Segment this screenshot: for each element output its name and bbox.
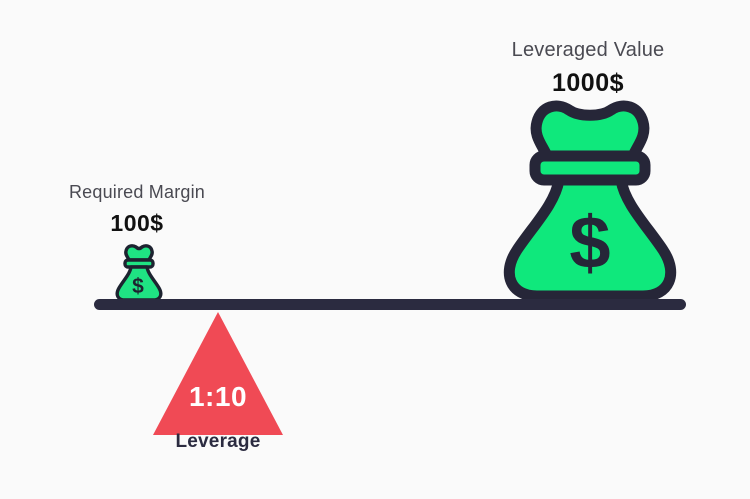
svg-text:$: $: [132, 275, 144, 298]
required-margin-caption: Required Margin: [37, 183, 237, 201]
leveraged-value-amount: 1000$: [438, 71, 738, 96]
illustration-canvas: Leveraged Value 1000$ $ Required Margin …: [0, 0, 750, 499]
fulcrum-triangle-icon: [151, 310, 285, 437]
leveraged-value-caption: Leveraged Value: [438, 40, 738, 60]
leverage-label: Leverage: [141, 432, 295, 451]
leverage-ratio-text: 1:10: [151, 383, 285, 411]
required-margin-amount: 100$: [37, 212, 237, 235]
small-money-bag-icon: $: [110, 244, 166, 302]
svg-text:$: $: [569, 201, 610, 284]
large-money-bag-icon: $: [497, 100, 683, 302]
balance-beam: [94, 299, 686, 310]
